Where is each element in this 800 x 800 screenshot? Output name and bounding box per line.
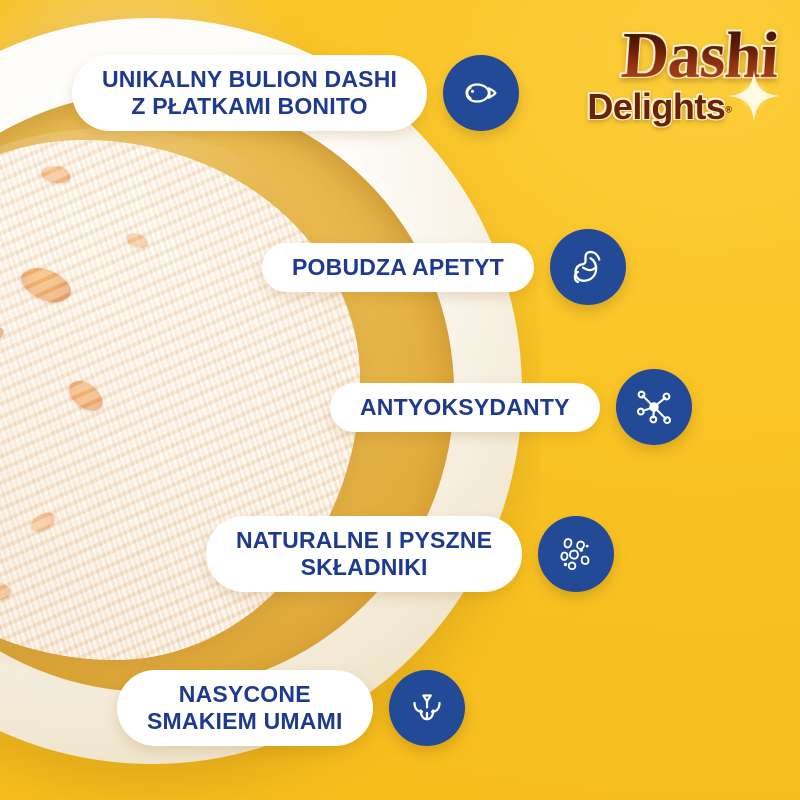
feature-badge[interactable]	[550, 229, 626, 305]
feature-badge[interactable]	[389, 670, 465, 746]
brand-name-secondary-wrapper: Delights®	[564, 88, 784, 126]
feature-label: ANTYOKSYDANTY	[360, 394, 570, 421]
stomach-icon	[568, 247, 608, 287]
bonito-flake	[16, 261, 76, 310]
feature-pill[interactable]: ANTYOKSYDANTY	[330, 383, 600, 432]
bonito-flake	[64, 375, 109, 417]
feature-row-pobudza-apetyt: POBUDZA APETYT	[262, 229, 626, 305]
bonito-flake	[0, 324, 5, 349]
feature-label: NATURALNE I PYSZNE SKŁADNIKI	[236, 527, 492, 581]
brand-logo: Dashi Delights®	[564, 26, 784, 146]
bonito-flake	[124, 230, 149, 250]
bonito-flake	[28, 509, 58, 535]
feature-badge[interactable]	[538, 516, 614, 592]
feature-pill[interactable]: UNIKALNY BULION DASHI Z PŁATKAMI BONITO	[72, 55, 427, 131]
product-feature-poster: Dashi Delights® UNIKALNY BULION DASHI Z …	[0, 0, 800, 800]
feature-row-antyoksydanty: ANTYOKSYDANTY	[330, 369, 692, 445]
feature-label: NASYCONE SMAKIEM UMAMI	[147, 681, 343, 735]
brand-name-secondary: Delights	[587, 88, 725, 126]
feature-pill[interactable]: NATURALNE I PYSZNE SKŁADNIKI	[206, 516, 522, 592]
feature-badge[interactable]	[616, 369, 692, 445]
molecule-icon	[633, 386, 675, 428]
bonito-flake	[39, 163, 72, 186]
feature-pill[interactable]: NASYCONE SMAKIEM UMAMI	[117, 670, 373, 746]
feature-label: POBUDZA APETYT	[292, 254, 504, 281]
fish-icon	[460, 72, 502, 114]
feature-row-naturalne-i-pyszne-skladniki: NATURALNE I PYSZNE SKŁADNIKI	[206, 516, 614, 592]
feature-label: UNIKALNY BULION DASHI Z PŁATKAMI BONITO	[102, 66, 397, 120]
bonito-flakes-icon	[555, 533, 597, 575]
registered-trademark-mark: ®	[725, 105, 732, 115]
feature-pill[interactable]: POBUDZA APETYT	[262, 243, 534, 292]
feature-badge[interactable]	[443, 55, 519, 131]
feature-row-unikalny-bulion-dashi: UNIKALNY BULION DASHI Z PŁATKAMI BONITO	[72, 55, 519, 131]
cat-tongue-umami-icon	[407, 688, 447, 728]
bonito-flake	[0, 580, 12, 603]
feature-row-nasycone-smakiem-umami: NASYCONE SMAKIEM UMAMI	[117, 670, 465, 746]
brand-name-primary: Dashi	[562, 26, 786, 86]
